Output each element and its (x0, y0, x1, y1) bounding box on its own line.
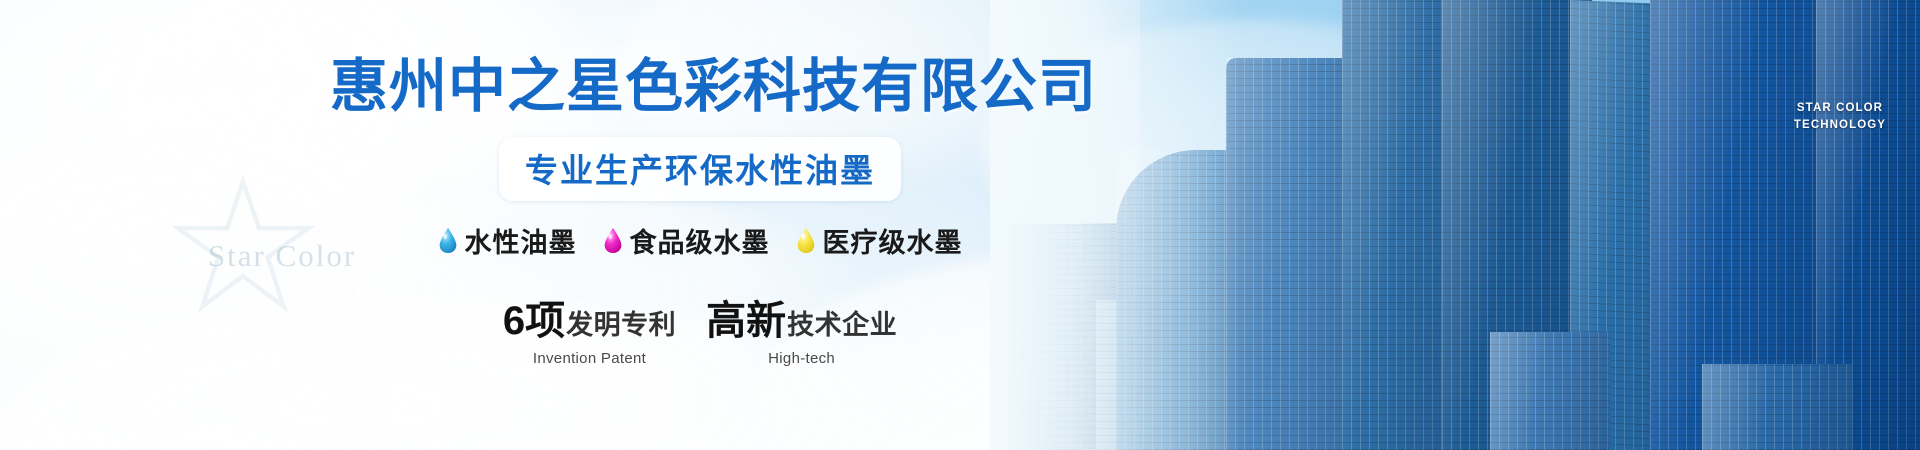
badge-subline: 发明专利 (566, 303, 676, 342)
subtitle-pill: 专业生产环保水性油墨 (499, 137, 901, 201)
company-hero-banner: Star Color STAR COLOR TECHNOLOGY 惠州中之星色彩… (0, 0, 1920, 450)
plaque-line-2: TECHNOLOGY (1782, 117, 1898, 134)
badge-english-label: Invention Patent (503, 350, 676, 367)
company-title: 惠州中之星色彩科技有限公司 (330, 56, 1070, 119)
water-drop-icon (796, 227, 816, 254)
badge-english-label: High-tech (706, 350, 897, 367)
feature-label: 食品级水墨 (630, 221, 770, 260)
banner-content: 惠州中之星色彩科技有限公司 专业生产环保水性油墨 水性油 (330, 0, 1070, 450)
feature-list: 水性油墨 食品级水墨 (330, 221, 1070, 260)
badge-high-tech: 高新 技术企业 High-tech (706, 288, 897, 367)
city-skyline-image (990, 0, 1920, 450)
badge-invention-patent: 6项 发明专利 Invention Patent (503, 288, 676, 367)
credential-badges: 6项 发明专利 Invention Patent 高新 技术企业 High-te… (330, 288, 1070, 367)
badge-subline: 技术企业 (787, 303, 897, 342)
plaque-line-1: STAR COLOR (1782, 100, 1898, 117)
feature-label: 医疗级水墨 (823, 221, 963, 260)
water-drop-icon (438, 227, 458, 254)
building-brand-plaque: STAR COLOR TECHNOLOGY (1782, 100, 1898, 134)
water-drop-icon (603, 227, 623, 254)
badge-headline: 6项 (503, 288, 565, 346)
feature-item: 医疗级水墨 (796, 221, 963, 260)
feature-label: 水性油墨 (465, 221, 577, 260)
badge-headline: 高新 (706, 288, 786, 346)
feature-item: 食品级水墨 (603, 221, 770, 260)
feature-item: 水性油墨 (438, 221, 577, 260)
